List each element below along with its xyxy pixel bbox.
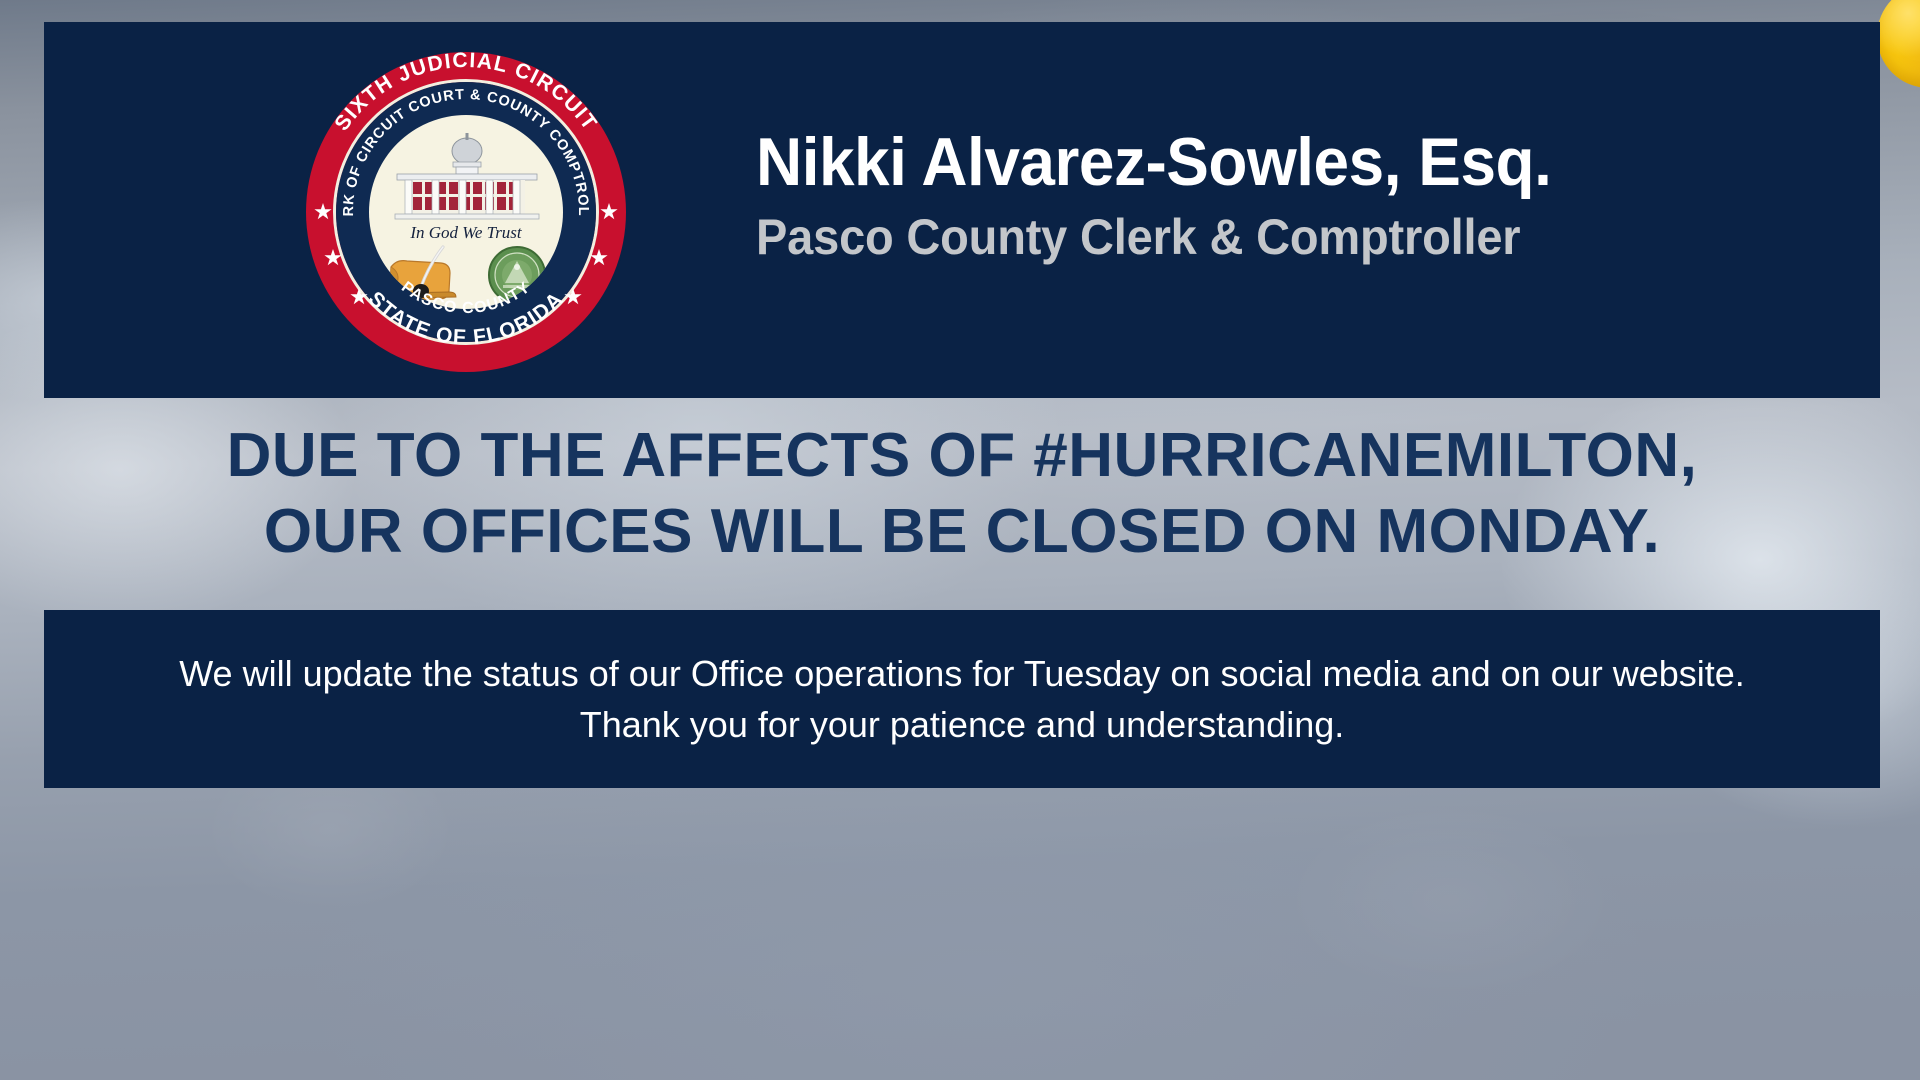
header-banner: In God We Trust <box>44 22 1880 398</box>
announcement-graphic: In God We Trust <box>0 0 1920 1080</box>
headline-line-2: OUR OFFICES WILL BE CLOSED ON MONDAY. <box>44 494 1880 570</box>
seal-inner-bottom-text: PASCO COUNTY <box>398 279 534 317</box>
clerk-title: Pasco County Clerk & Comptroller <box>756 211 1790 264</box>
body-message-banner: We will update the status of our Office … <box>44 610 1880 788</box>
headline-line-1: DUE TO THE AFFECTS OF #HURRICANEMILTON, <box>44 418 1880 494</box>
body-message: We will update the status of our Office … <box>132 648 1792 750</box>
seal-outer-bottom-text: STATE OF FLORIDA <box>364 287 569 349</box>
seal-ring-text-layer: SIXTH JUDICIAL CIRCUIT STATE OF FLORIDA … <box>306 52 626 372</box>
seal-star-icons <box>314 203 617 304</box>
clerk-name: Nikki Alvarez-Sowles, Esq. <box>756 128 1790 197</box>
body-line-2: Thank you for your patience and understa… <box>580 704 1345 745</box>
pasco-county-clerk-seal: In God We Trust <box>306 52 626 372</box>
closure-headline: DUE TO THE AFFECTS OF #HURRICANEMILTON, … <box>44 418 1880 569</box>
header-text-block: Nikki Alvarez-Sowles, Esq. Pasco County … <box>756 128 1856 264</box>
body-line-1: We will update the status of our Office … <box>179 653 1745 694</box>
